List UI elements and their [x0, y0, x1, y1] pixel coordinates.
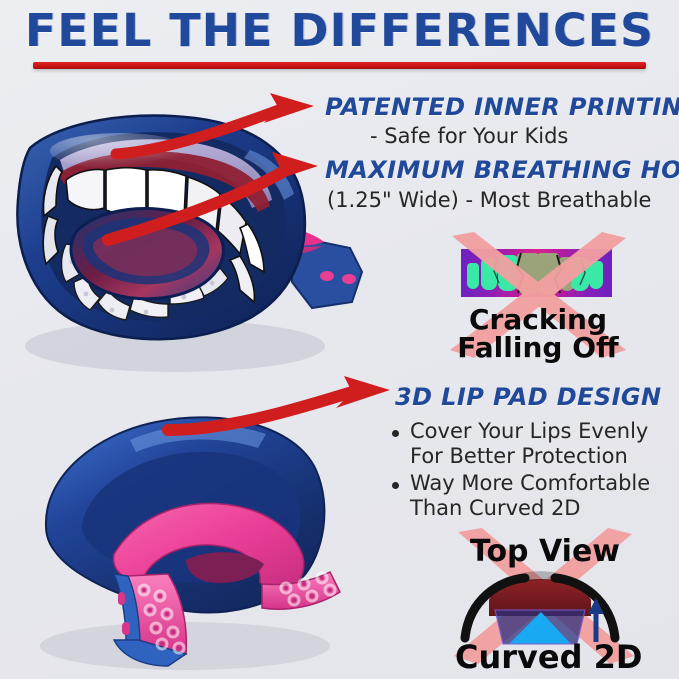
feature-bullet-1-line-1: Cover Your Lips Evenly [410, 419, 648, 443]
feature-bullet-1-line-2: For Better Protection [410, 444, 628, 468]
feature-subtext-patented-inner-printing: - Safe for Your Kids [370, 124, 568, 148]
negative-label-curved-2d: Curved 2D [455, 638, 635, 676]
page-title: FEEL THE DIFFERENCES [0, 4, 679, 58]
negative-label-falling-off: Falling Off [447, 331, 629, 364]
title-underline-rule [33, 62, 646, 69]
curved-2d-diagram [455, 560, 625, 650]
pointer-arrow-2-icon [100, 140, 326, 250]
page-title-wrap: FEEL THE DIFFERENCES [0, 4, 679, 58]
pointer-arrow-3-icon [160, 372, 400, 442]
cracked-teeth-image [461, 249, 612, 297]
feature-heading-3d-lip-pad-design: 3D LIP PAD DESIGN [395, 383, 662, 411]
feature-subtext-maximum-breathing-hole: (1.25" Wide) - Most Breathable [327, 188, 651, 212]
crack-lines-icon [461, 249, 612, 297]
feature-bullet-2-line-1: Way More Comfortable [410, 471, 650, 495]
feature-heading-maximum-breathing-hole: MAXIMUM BREATHING HOLE [325, 156, 679, 184]
negative-label-top-view: Top View [455, 534, 635, 569]
infographic-canvas: FEEL THE DIFFERENCES [0, 0, 679, 679]
bullet-dot-1 [392, 430, 399, 437]
feature-bullet-2-line-2: Than Curved 2D [410, 496, 580, 520]
bullet-dot-2 [392, 482, 399, 489]
feature-heading-patented-inner-printing: PATENTED INNER PRINTING [325, 93, 679, 121]
